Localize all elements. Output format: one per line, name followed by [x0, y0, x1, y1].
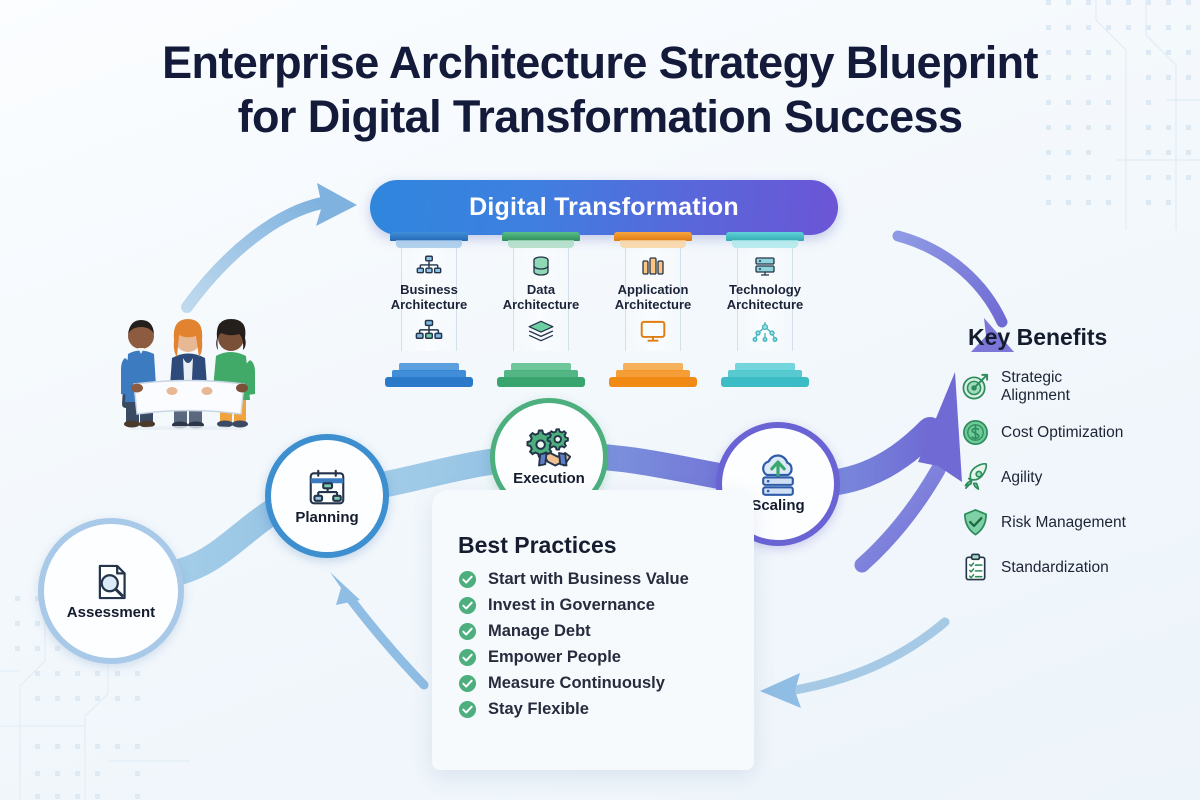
pillar-label-application: Application Architecture	[597, 282, 709, 313]
calendar-plan-icon	[304, 466, 350, 508]
pillar-label-technology: Technology Architecture	[709, 282, 821, 313]
server-icon	[750, 254, 780, 278]
best-practice-label: Measure Continuously	[488, 674, 665, 693]
pillar-capital-under	[508, 240, 574, 248]
org-chart-icon	[414, 254, 444, 278]
journey-label-execution: Execution	[513, 470, 585, 487]
key-benefit-item[interactable]: Strategic Alignment	[960, 369, 1190, 405]
pillar-label-line2: Architecture	[503, 297, 580, 312]
key-benefit-item[interactable]: Standardization	[960, 551, 1190, 585]
pillar-base-step3	[609, 377, 697, 387]
pillar-capital-under	[396, 240, 462, 248]
key-benefit-label: Cost Optimization	[1001, 424, 1123, 442]
best-practice-item[interactable]: Stay Flexible	[458, 700, 754, 719]
dollar-coin-icon	[960, 418, 990, 448]
database-icon	[526, 254, 556, 278]
pillar-label-line1: Data	[527, 282, 555, 297]
best-practice-item[interactable]: Manage Debt	[458, 622, 754, 641]
key-benefit-label: Agility	[1001, 469, 1042, 487]
check-circle-icon	[458, 700, 477, 719]
journey-label-assessment: Assessment	[67, 604, 155, 621]
journey-label-planning: Planning	[295, 509, 358, 526]
pillar-label-line1: Business	[400, 282, 458, 297]
page-title: Enterprise Architecture Strategy Bluepri…	[0, 36, 1200, 144]
pillar-label-line2: Architecture	[391, 297, 468, 312]
key-benefit-item[interactable]: Risk Management	[960, 506, 1190, 540]
key-benefit-line1: Strategic	[1001, 369, 1062, 386]
best-practice-item[interactable]: Empower People	[458, 648, 754, 667]
pillar-application-architecture[interactable]: Application Architecture	[603, 232, 703, 387]
app-window-icon	[638, 254, 668, 278]
team-with-blueprint-illustration	[112, 298, 272, 430]
best-practices-title: Best Practices	[458, 532, 754, 559]
key-benefits-section: Key Benefits Strategic Alignment	[960, 324, 1190, 596]
pillar-capital-under	[732, 240, 798, 248]
arrow-practices-to-planning	[330, 572, 424, 685]
rocket-icon	[960, 463, 990, 493]
clipboard-list-icon	[960, 553, 990, 583]
layers-stack-icon	[526, 318, 556, 344]
infographic-canvas: Enterprise Architecture Strategy Bluepri…	[0, 0, 1200, 800]
key-benefit-line2: Alignment	[1001, 387, 1070, 404]
key-benefit-label: Strategic Alignment	[1001, 369, 1070, 405]
journey-label-scaling: Scaling	[751, 497, 804, 514]
pillar-label-line2: Architecture	[615, 297, 692, 312]
banner-label: Digital Transformation	[469, 193, 739, 222]
pillar-base-step3	[385, 377, 473, 387]
key-benefit-item[interactable]: Agility	[960, 461, 1190, 495]
target-icon	[960, 372, 990, 402]
check-circle-icon	[458, 622, 477, 641]
network-nodes-icon	[750, 318, 780, 344]
key-benefits-title: Key Benefits	[968, 324, 1190, 351]
title-line-2: for Digital Transformation Success	[0, 90, 1200, 144]
best-practices-card: Best Practices Start with Business Value…	[432, 490, 754, 770]
best-practice-item[interactable]: Invest in Governance	[458, 596, 754, 615]
key-benefit-label: Risk Management	[1001, 514, 1126, 532]
pillar-technology-architecture[interactable]: Technology Architecture	[715, 232, 815, 387]
best-practice-label: Stay Flexible	[488, 700, 589, 719]
best-practice-item[interactable]: Measure Continuously	[458, 674, 754, 693]
best-practice-label: Invest in Governance	[488, 596, 655, 615]
check-circle-icon	[458, 596, 477, 615]
monitor-icon	[638, 318, 668, 344]
title-line-1: Enterprise Architecture Strategy Bluepri…	[0, 36, 1200, 90]
best-practice-label: Empower People	[488, 648, 621, 667]
pillar-label-line2: Architecture	[727, 297, 804, 312]
pillar-business-architecture[interactable]: Business Architecture	[379, 232, 479, 387]
check-circle-icon	[458, 648, 477, 667]
pillar-label-line1: Application	[618, 282, 689, 297]
best-practice-label: Manage Debt	[488, 622, 591, 641]
arrow-scaling-to-benefits	[862, 372, 962, 565]
arrow-benefits-loop-back	[760, 622, 945, 708]
digital-transformation-banner: Digital Transformation	[370, 180, 838, 235]
pillar-base-step3	[497, 377, 585, 387]
pillar-label-line1: Technology	[729, 282, 801, 297]
pillar-base-step3	[721, 377, 809, 387]
key-benefit-label: Standardization	[1001, 559, 1109, 577]
org-chart-icon-lower	[414, 318, 444, 344]
key-benefit-item[interactable]: Cost Optimization	[960, 416, 1190, 450]
architecture-pillars: Business Architecture	[372, 232, 836, 387]
journey-step-assessment[interactable]: Assessment	[38, 518, 184, 664]
best-practice-label: Start with Business Value	[488, 570, 689, 589]
pillar-capital-under	[620, 240, 686, 248]
check-circle-icon	[458, 674, 477, 693]
check-circle-icon	[458, 570, 477, 589]
cloud-server-icon	[755, 454, 801, 496]
document-search-icon	[88, 561, 134, 603]
pillar-label-business: Business Architecture	[373, 282, 485, 313]
shield-check-icon	[960, 508, 990, 538]
pillar-data-architecture[interactable]: Data Architecture	[491, 232, 591, 387]
journey-step-planning[interactable]: Planning	[265, 434, 389, 558]
gears-handshake-icon	[526, 427, 572, 469]
arrow-team-to-transformation	[187, 183, 357, 307]
best-practice-item[interactable]: Start with Business Value	[458, 570, 754, 589]
pillar-label-data: Data Architecture	[485, 282, 597, 313]
